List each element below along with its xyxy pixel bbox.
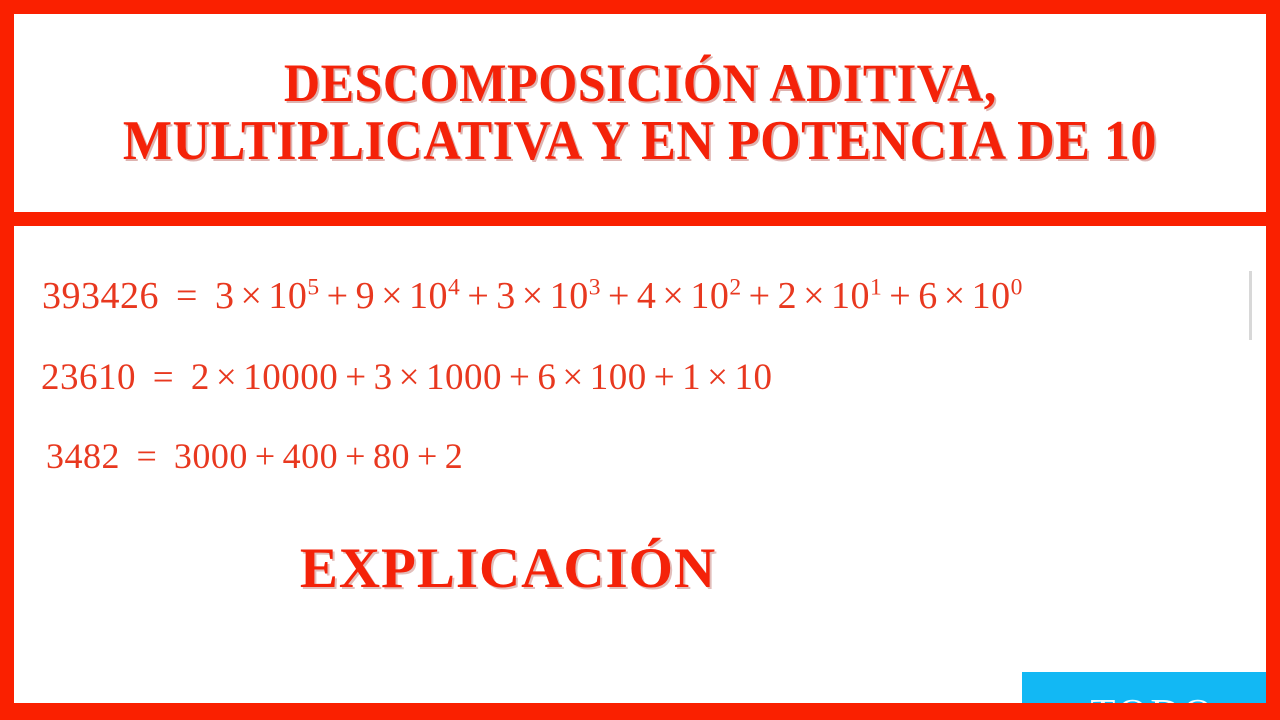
times-sign: × [556,357,589,398]
term-exponent: 2 [729,274,741,300]
plus-sign: + [410,436,445,476]
equation-left-value: 23610 [41,357,136,398]
logo-top-text: TODO [1022,689,1266,703]
term-base: 10 [690,275,729,317]
explicacion-heading: EXPLICACIÓN [14,536,1266,601]
term-base: 10 [268,275,307,317]
term-coefficient: 9 [356,275,376,317]
plus-sign: + [647,357,682,398]
term-exponent: 1 [870,274,882,300]
equals-sign: = [146,357,181,398]
term-base: 10 [550,275,589,317]
term-base: 80 [373,436,410,476]
times-sign: × [393,357,426,398]
plus-sign: + [502,357,537,398]
term-base: 3000 [174,436,248,476]
term-base: 10 [831,275,870,317]
term-base: 400 [283,436,339,476]
term-base: 100 [590,357,647,398]
times-sign: × [656,275,690,317]
term-coefficient: 1 [682,357,701,398]
term-exponent: 3 [589,274,601,300]
times-sign: × [938,275,972,317]
times-sign: × [516,275,550,317]
brand-logo: TODO [1022,672,1266,703]
equation-row: 3482 = 3000+400+80+2 [46,435,463,477]
term-base: 10000 [243,357,338,398]
equation-row: 393426 = 3×105+9×104+3×103+4×102+2×101+6… [42,274,1023,318]
plus-sign: + [460,275,496,317]
equation-left-value: 393426 [42,275,159,317]
term-base: 10 [409,275,448,317]
equals-sign: = [169,275,205,317]
text-caret [1249,271,1252,340]
equals-sign: = [130,436,165,476]
plus-sign: + [248,436,283,476]
times-sign: × [797,275,831,317]
equation-row: 23610 = 2×10000+3×1000+6×100+1×10 [41,356,773,399]
term-coefficient: 6 [537,357,556,398]
term-coefficient: 3 [374,357,393,398]
term-coefficient: 2 [191,357,210,398]
term-coefficient: 2 [778,275,798,317]
term-exponent: 4 [448,274,460,300]
term-base: 2 [445,436,464,476]
term-exponent: 5 [307,274,319,300]
equation-left-value: 3482 [46,436,120,476]
slide-canvas: DESCOMPOSICIÓN ADITIVA, MULTIPLICATIVA Y… [0,0,1280,720]
plus-sign: + [338,357,373,398]
times-sign: × [375,275,409,317]
plus-sign: + [338,436,373,476]
title-panel: DESCOMPOSICIÓN ADITIVA, MULTIPLICATIVA Y… [14,14,1266,212]
term-base: 10 [735,357,773,398]
page-title-line-1: DESCOMPOSICIÓN ADITIVA, [284,55,997,112]
content-panel: 393426 = 3×105+9×104+3×103+4×102+2×101+6… [14,226,1266,703]
term-base: 10 [972,275,1011,317]
term-coefficient: 3 [215,275,235,317]
term-coefficient: 4 [637,275,657,317]
term-coefficient: 6 [918,275,938,317]
term-base: 1000 [426,357,502,398]
times-sign: × [234,275,268,317]
page-title-line-2: MULTIPLICATIVA Y EN POTENCIA DE 10 [123,112,1157,171]
times-sign: × [701,357,734,398]
plus-sign: + [742,275,778,317]
plus-sign: + [882,275,918,317]
plus-sign: + [601,275,637,317]
plus-sign: + [320,275,356,317]
term-coefficient: 3 [496,275,516,317]
times-sign: × [210,357,243,398]
term-exponent: 0 [1011,274,1023,300]
